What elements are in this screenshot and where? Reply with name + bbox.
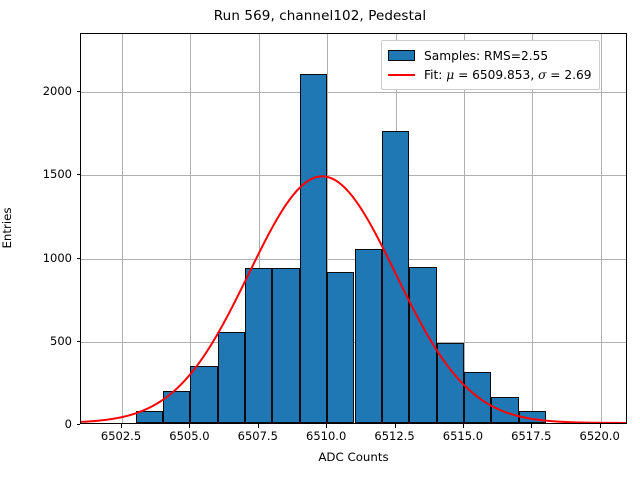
legend-fit-prefix: Fit: [424,68,446,82]
y-tick-label: 500 [50,334,72,348]
chart-title: Run 569, channel102, Pedestal [0,8,640,24]
x-tick-mark [326,424,327,428]
x-tick-label: 6515.0 [443,429,483,443]
y-tick-label: 2000 [43,84,72,98]
plot-area [80,33,627,424]
x-tick-label: 6517.5 [511,429,551,443]
y-tick-mark [77,424,81,425]
x-tick-mark [600,424,601,428]
x-tick-mark [258,424,259,428]
x-tick-label: 6520.0 [580,429,620,443]
x-tick-label: 6510.0 [306,429,346,443]
x-tick-label: 6512.5 [374,429,414,443]
y-tick-label: 1000 [43,251,72,265]
x-tick-mark [463,424,464,428]
x-tick-label: 6502.5 [101,429,141,443]
plot-inner [81,34,626,423]
y-tick-label: 1500 [43,167,72,181]
x-axis-label: ADC Counts [80,450,627,464]
x-tick-label: 6505.0 [169,429,209,443]
legend-fit-mu-symbol: μ [446,68,454,82]
x-tick-mark [395,424,396,428]
y-axis-label: Entries [0,207,14,248]
y-tick-label: 0 [65,417,72,431]
x-tick-mark [121,424,122,428]
fit-curve [81,34,626,423]
x-tick-label: 6507.5 [238,429,278,443]
legend-label-fit: Fit: μ = 6509.853, σ = 2.69 [424,68,592,82]
legend-fit-mu-value: = 6509.853, [454,68,538,82]
legend-item-samples: Samples: RMS=2.55 [388,46,592,65]
legend: Samples: RMS=2.55 Fit: μ = 6509.853, σ =… [381,40,600,90]
legend-patch-icon [388,50,415,61]
legend-item-fit: Fit: μ = 6509.853, σ = 2.69 [388,65,592,84]
x-tick-mark [531,424,532,428]
x-tick-mark [189,424,190,428]
gaussian-fit-path [81,176,626,423]
legend-label-samples: Samples: RMS=2.55 [424,49,548,63]
legend-fit-sigma-value: = 2.69 [546,68,591,82]
legend-line-icon [388,74,415,76]
histogram-figure: Run 569, channel102, Pedestal Entries AD… [0,0,640,480]
